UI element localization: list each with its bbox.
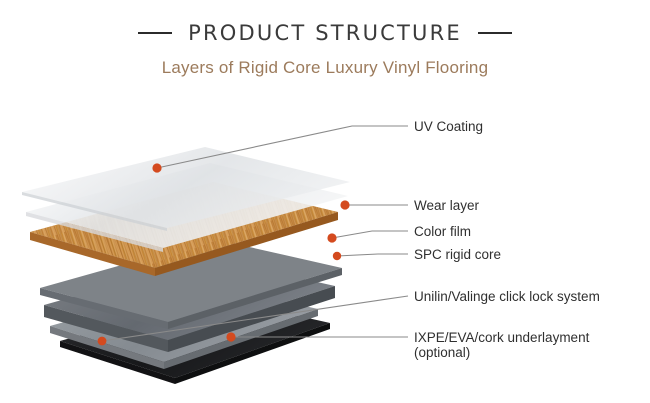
product-structure-infographic: PRODUCT STRUCTURE Layers of Rigid Core L… [0,0,650,403]
marker-dot-uv-coating [152,163,161,172]
label-click-lock: Unilin/Valinge click lock system [414,289,600,304]
label-spc-rigid-core: SPC rigid core [414,247,501,262]
leader-spc-rigid-core [337,254,408,256]
label-uv-coating: UV Coating [414,119,483,134]
label-color-film: Color film [414,224,471,239]
marker-dot-wear-layer [340,200,349,209]
label-underlayment-main: IXPE/EVA/cork underlayment [414,330,589,345]
leader-color-film [332,231,408,238]
marker-dot-underlayment [226,332,235,341]
marker-dot-color-film [327,233,336,242]
marker-dot-click-lock [98,337,107,346]
label-underlayment-optional: (optional) [414,345,589,360]
marker-dot-spc-rigid-core [333,252,341,260]
label-wear-layer: Wear layer [414,198,479,213]
label-underlayment: IXPE/EVA/cork underlayment (optional) [414,330,589,360]
